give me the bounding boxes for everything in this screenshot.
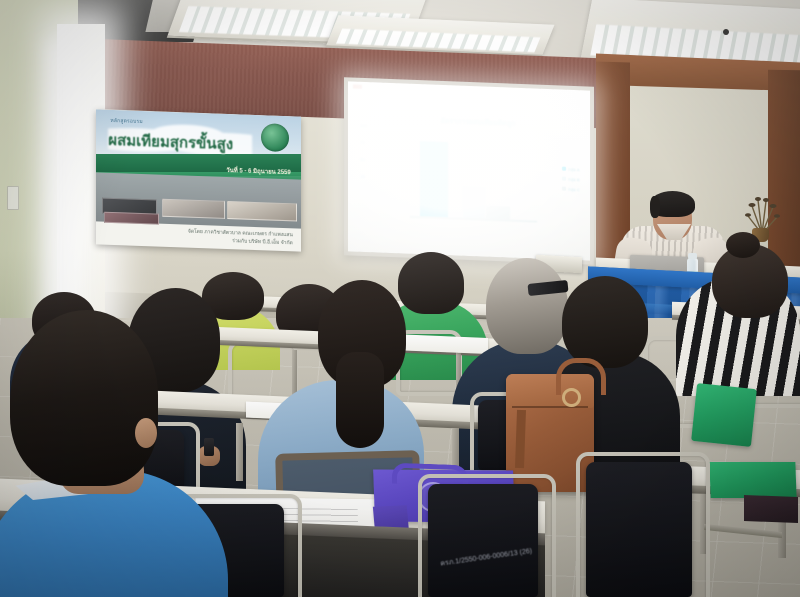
event-banner: หลักสูตรอบรม ผสมเทียมสุกรขั้นสูง วันที่ … bbox=[96, 109, 301, 251]
attendee-ponytail bbox=[336, 352, 384, 448]
leather-bag-buckle-icon bbox=[562, 388, 581, 407]
banner-eyebrow-text: หลักสูตรอบรม bbox=[110, 117, 143, 126]
attendee-grey-hair-head bbox=[486, 258, 568, 354]
projection-screen: อัตราการผสมเทียมติดลูก 100 75 50 25 กลุ่… bbox=[348, 81, 590, 260]
speaker-hair-side bbox=[650, 196, 660, 218]
green-bag-1[interactable] bbox=[709, 462, 796, 498]
attendee-striped-top-hair-knot bbox=[726, 232, 760, 258]
banner-photo-2 bbox=[104, 212, 159, 224]
leather-bag-handle[interactable] bbox=[556, 358, 606, 395]
banner-logo-icon bbox=[261, 123, 289, 152]
green-bag-2[interactable] bbox=[691, 383, 757, 447]
foreground-attendee-ear bbox=[135, 418, 157, 448]
light-switch[interactable] bbox=[7, 186, 19, 210]
foreground-attendee-head bbox=[10, 310, 158, 486]
leather-bag-seam bbox=[512, 406, 588, 408]
chair-front-center-back[interactable] bbox=[428, 484, 538, 597]
dark-folded-cloth bbox=[744, 495, 798, 523]
banner-photo-strip bbox=[96, 173, 301, 229]
chair-front-right-back[interactable] bbox=[586, 462, 692, 597]
projector-overexposure-wash bbox=[348, 81, 590, 260]
water-bottle-cap bbox=[688, 253, 697, 259]
attendee-right-dark-head bbox=[562, 276, 648, 368]
table-row-2-leg-left bbox=[236, 423, 243, 481]
ceiling-sensor-dot bbox=[723, 29, 729, 35]
banner-photo-4 bbox=[227, 201, 297, 221]
seminar-room-photo: หลักสูตรอบรม ผสมเทียมสุกรขั้นสูง วันที่ … bbox=[0, 0, 800, 597]
mobile-phone[interactable] bbox=[204, 438, 214, 456]
table-row-3-leg-left bbox=[292, 350, 297, 396]
banner-photo-3 bbox=[162, 199, 226, 219]
banner-footer-text: จัดโดย ภาควิชาสัตวบาล คณะเกษตร กำแพงแสน … bbox=[125, 227, 293, 247]
attendee-green-shirt-head bbox=[398, 252, 464, 314]
